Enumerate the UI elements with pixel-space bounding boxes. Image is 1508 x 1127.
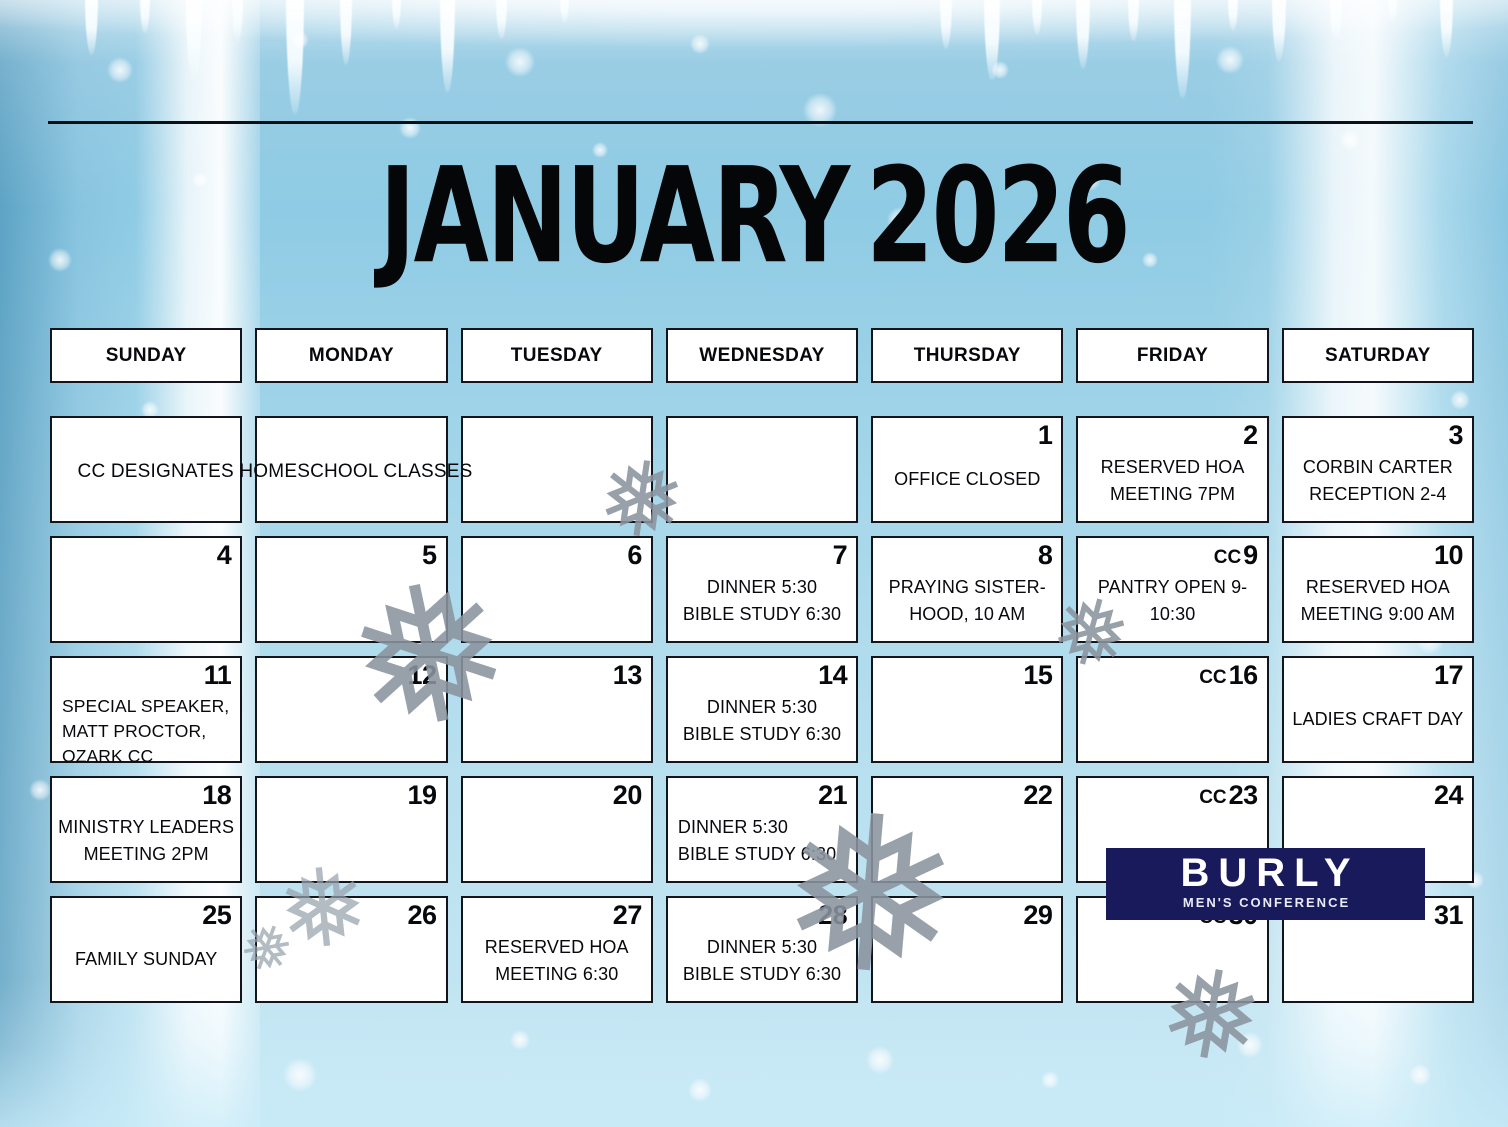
day-number-value: 7 <box>833 540 848 570</box>
title-year: 2026 <box>866 140 1128 293</box>
day-cell-17[interactable]: 17LADIES CRAFT DAY <box>1282 656 1474 763</box>
day-number-value: 6 <box>627 540 642 570</box>
day-number: 14 <box>818 660 847 690</box>
event-line: OZARK CC <box>62 744 234 769</box>
event-line: MINISTRY LEADERS <box>58 814 234 841</box>
day-number-value: 13 <box>613 660 642 690</box>
day-number: 6 <box>627 540 642 570</box>
day-number-value: 5 <box>422 540 437 570</box>
weekday-header-wednesday: WEDNESDAY <box>666 328 858 383</box>
day-cell-3[interactable]: 3CORBIN CARTERRECEPTION 2-4 <box>1282 416 1474 523</box>
weekday-header-thursday: THURSDAY <box>871 328 1063 383</box>
weekday-header-row: SUNDAYMONDAYTUESDAYWEDNESDAYTHURSDAYFRID… <box>50 328 1474 383</box>
day-number-value: 15 <box>1023 660 1052 690</box>
day-cell-13[interactable]: 13 <box>461 656 653 763</box>
event-line: RESERVED HOA <box>1084 454 1260 481</box>
day-cell-28[interactable]: 28DINNER 5:30BIBLE STUDY 6:30 <box>666 896 858 1003</box>
day-number-value: 12 <box>408 660 437 690</box>
day-cell-4[interactable]: 4 <box>50 536 242 643</box>
day-number-value: 22 <box>1023 780 1052 810</box>
event-line: BIBLE STUDY 6:30 <box>674 721 850 748</box>
day-number-value: 25 <box>202 900 231 930</box>
day-cell-16[interactable]: CC16 <box>1076 656 1268 763</box>
event-line: MEETING 7PM <box>1084 481 1260 508</box>
day-cell-8[interactable]: 8PRAYING SISTER-HOOD, 10 AM <box>871 536 1063 643</box>
day-cell-19[interactable]: 19 <box>255 776 447 883</box>
day-number-value: 21 <box>818 780 847 810</box>
day-number-value: 29 <box>1023 900 1052 930</box>
day-number-value: 14 <box>818 660 847 690</box>
day-cell-6[interactable]: 6 <box>461 536 653 643</box>
day-cell-12[interactable]: 12 <box>255 656 447 763</box>
day-cell-26[interactable]: 26 <box>255 896 447 1003</box>
day-number-value: 1 <box>1038 420 1053 450</box>
day-number: 13 <box>613 660 642 690</box>
event-line: DINNER 5:30 <box>678 814 850 841</box>
day-cell-10[interactable]: 10RESERVED HOAMEETING 9:00 AM <box>1282 536 1474 643</box>
event-line: BIBLE STUDY 6:30 <box>674 961 850 988</box>
weekday-header-tuesday: TUESDAY <box>461 328 653 383</box>
day-cell-15[interactable]: 15 <box>871 656 1063 763</box>
event-line: MEETING 9:00 AM <box>1290 601 1466 628</box>
day-number-value: 26 <box>408 900 437 930</box>
event-text: RESERVED HOAMEETING 9:00 AM <box>1290 574 1466 628</box>
event-text: RESERVED HOAMEETING 6:30 <box>469 934 645 988</box>
event-line: RECEPTION 2-4 <box>1290 481 1466 508</box>
calendar-week-row: 4567DINNER 5:30BIBLE STUDY 6:308PRAYING … <box>50 536 1474 643</box>
day-number-value: 19 <box>408 780 437 810</box>
day-number-value: 4 <box>217 540 232 570</box>
day-number: 24 <box>1434 780 1463 810</box>
day-cell-14[interactable]: 14DINNER 5:30BIBLE STUDY 6:30 <box>666 656 858 763</box>
day-cell-18[interactable]: 18MINISTRY LEADERSMEETING 2PM <box>50 776 242 883</box>
day-number-value: 31 <box>1434 900 1463 930</box>
burly-banner-title: BURLY <box>1171 851 1359 895</box>
event-text: MINISTRY LEADERSMEETING 2PM <box>58 814 234 868</box>
day-number-value: 2 <box>1243 420 1258 450</box>
day-number: 7 <box>833 540 848 570</box>
event-line: BIBLE STUDY 6:30 <box>674 601 850 628</box>
day-number: 15 <box>1023 660 1052 690</box>
event-line: RESERVED HOA <box>469 934 645 961</box>
event-line: PRAYING SISTER- <box>879 574 1055 601</box>
day-number: 21 <box>818 780 847 810</box>
burly-banner-subtitle: MEN'S CONFERENCE <box>1181 895 1350 911</box>
header-divider-rule <box>48 121 1473 124</box>
day-number: 31 <box>1434 900 1463 930</box>
day-number: 20 <box>613 780 642 810</box>
day-number: CC9 <box>1214 540 1258 573</box>
weekday-header-monday: MONDAY <box>255 328 447 383</box>
day-number-value: 16 <box>1229 660 1258 690</box>
event-text: PRAYING SISTER-HOOD, 10 AM <box>879 574 1055 628</box>
event-line: MEETING 6:30 <box>469 961 645 988</box>
homeschool-cc-marker: CC <box>1199 787 1226 808</box>
event-text: PANTRY OPEN 9-10:30 <box>1084 574 1260 628</box>
day-cell-5[interactable]: 5 <box>255 536 447 643</box>
event-line: DINNER 5:30 <box>674 934 850 961</box>
event-text: DINNER 5:30BIBLE STUDY 6:30 <box>674 574 850 628</box>
day-cell-9[interactable]: CC9PANTRY OPEN 9-10:30 <box>1076 536 1268 643</box>
day-number: 29 <box>1023 900 1052 930</box>
burly-mens-conference-banner[interactable]: BURLY MEN'S CONFERENCE <box>1106 848 1425 920</box>
event-line: RESERVED HOA <box>1290 574 1466 601</box>
day-number-value: 20 <box>613 780 642 810</box>
day-number: 2 <box>1243 420 1258 450</box>
day-number: 10 <box>1434 540 1463 570</box>
event-line: LADIES CRAFT DAY <box>1290 706 1466 733</box>
event-line: HOOD, 10 AM <box>879 601 1055 628</box>
day-number-value: 23 <box>1229 780 1258 810</box>
homeschool-cc-marker: CC <box>1199 667 1226 688</box>
day-cell-25[interactable]: 25FAMILY SUNDAY <box>50 896 242 1003</box>
page-title: JANUARY2026 <box>0 149 1508 286</box>
event-text: DINNER 5:30BIBLE STUDY 6:30 <box>674 694 850 748</box>
day-number: 5 <box>422 540 437 570</box>
day-number: 25 <box>202 900 231 930</box>
homeschool-legend-note: CC DESIGNATES HOMESCHOOL CLASSES <box>60 461 490 483</box>
day-cell-27[interactable]: 27RESERVED HOAMEETING 6:30 <box>461 896 653 1003</box>
event-text: DINNER 5:30BIBLE STUDY 6:30 <box>678 814 850 868</box>
day-cell-empty[interactable] <box>666 416 858 523</box>
day-number-value: 17 <box>1434 660 1463 690</box>
day-number: 22 <box>1023 780 1052 810</box>
day-number-value: 11 <box>204 660 232 690</box>
weekday-header-saturday: SATURDAY <box>1282 328 1474 383</box>
day-number-value: 24 <box>1434 780 1463 810</box>
day-cell-11[interactable]: 11SPECIAL SPEAKER,MATT PROCTOR,OZARK CC <box>50 656 242 763</box>
homeschool-cc-marker: CC <box>1214 547 1241 568</box>
day-number: 19 <box>408 780 437 810</box>
event-text: SPECIAL SPEAKER,MATT PROCTOR,OZARK CC <box>62 694 234 769</box>
event-text: FAMILY SUNDAY <box>58 946 234 973</box>
weekday-header-sunday: SUNDAY <box>50 328 242 383</box>
event-line: BIBLE STUDY 6:30 <box>678 841 850 868</box>
event-line: 10:30 <box>1084 601 1260 628</box>
event-line: DINNER 5:30 <box>674 574 850 601</box>
day-cell-22[interactable]: 22 <box>871 776 1063 883</box>
day-cell-29[interactable]: 29 <box>871 896 1063 1003</box>
event-line: FAMILY SUNDAY <box>58 946 234 973</box>
event-line: DINNER 5:30 <box>674 694 850 721</box>
day-number-value: 8 <box>1038 540 1053 570</box>
title-month: JANUARY <box>379 140 848 293</box>
day-number: 11 <box>204 660 232 690</box>
day-number: 3 <box>1448 420 1463 450</box>
day-number: 18 <box>202 780 231 810</box>
event-line: MATT PROCTOR, <box>62 719 234 744</box>
event-line: OFFICE CLOSED <box>879 466 1055 493</box>
event-text: LADIES CRAFT DAY <box>1290 706 1466 733</box>
weekday-header-friday: FRIDAY <box>1076 328 1268 383</box>
day-number-value: 10 <box>1434 540 1463 570</box>
event-text: DINNER 5:30BIBLE STUDY 6:30 <box>674 934 850 988</box>
day-cell-2[interactable]: 2RESERVED HOAMEETING 7PM <box>1076 416 1268 523</box>
day-number: 17 <box>1434 660 1463 690</box>
day-number: 26 <box>408 900 437 930</box>
day-number: CC23 <box>1199 780 1258 813</box>
day-number-value: 27 <box>613 900 642 930</box>
day-cell-21[interactable]: 21DINNER 5:30BIBLE STUDY 6:30 <box>666 776 858 883</box>
day-number-value: 3 <box>1448 420 1463 450</box>
event-text: OFFICE CLOSED <box>879 466 1055 493</box>
event-line: MEETING 2PM <box>58 841 234 868</box>
day-number: 12 <box>408 660 437 690</box>
event-line: SPECIAL SPEAKER, <box>62 694 234 719</box>
event-text: CORBIN CARTERRECEPTION 2-4 <box>1290 454 1466 508</box>
day-number: 4 <box>217 540 232 570</box>
day-number: 27 <box>613 900 642 930</box>
day-number: 28 <box>818 900 847 930</box>
event-line: PANTRY OPEN 9- <box>1084 574 1260 601</box>
day-number-value: 28 <box>818 900 847 930</box>
day-number: CC16 <box>1199 660 1258 693</box>
event-text: RESERVED HOAMEETING 7PM <box>1084 454 1260 508</box>
day-cell-1[interactable]: 1OFFICE CLOSED <box>871 416 1063 523</box>
day-number: 8 <box>1038 540 1053 570</box>
day-number-value: 9 <box>1243 540 1258 570</box>
day-cell-20[interactable]: 20 <box>461 776 653 883</box>
event-line: CORBIN CARTER <box>1290 454 1466 481</box>
day-number-value: 18 <box>202 780 231 810</box>
day-number: 1 <box>1038 420 1053 450</box>
day-cell-7[interactable]: 7DINNER 5:30BIBLE STUDY 6:30 <box>666 536 858 643</box>
calendar-week-row: 11SPECIAL SPEAKER,MATT PROCTOR,OZARK CC1… <box>50 656 1474 763</box>
